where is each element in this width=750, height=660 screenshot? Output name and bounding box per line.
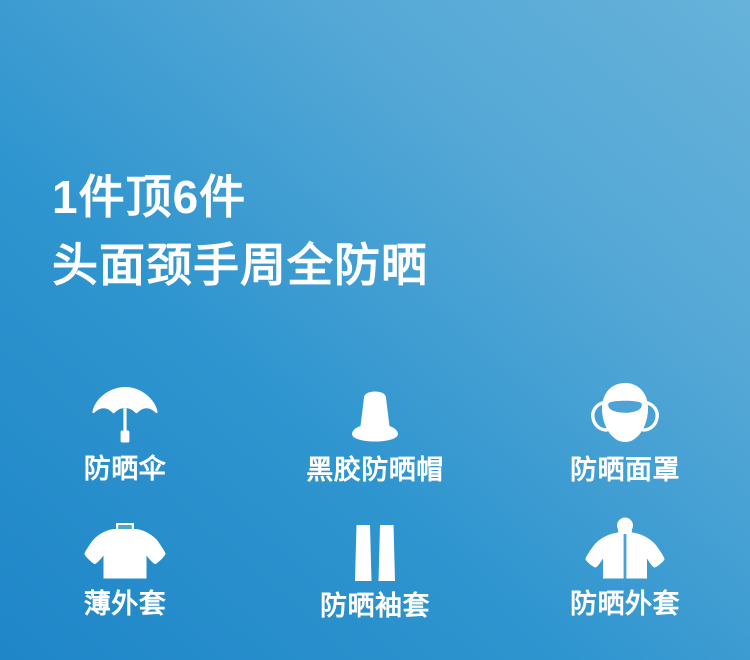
feature-label-umbrella: 防晒伞: [84, 456, 167, 483]
feature-label-sweater: 薄外套: [84, 591, 167, 618]
feature-label-hooded-jacket: 防晒外套: [570, 591, 680, 618]
feature-item-face-mask: 防晒面罩: [500, 372, 750, 507]
feature-item-arm-sleeves: 防晒袖套: [250, 507, 500, 642]
feature-grid: 防晒伞 黑胶防晒帽: [0, 372, 750, 642]
headline: 1件顶6件 头面颈手周全防晒: [52, 172, 428, 291]
feature-item-bucket-hat: 黑胶防晒帽: [250, 372, 500, 507]
headline-line-2: 头面颈手周全防晒: [52, 240, 428, 292]
hooded-jacket-icon: [585, 507, 665, 581]
arm-sleeves-icon: [353, 507, 397, 581]
sweater-icon: [84, 507, 166, 581]
feature-label-face-mask: 防晒面罩: [570, 457, 680, 484]
feature-item-hooded-jacket: 防晒外套: [500, 507, 750, 642]
headline-line-1: 1件顶6件: [52, 172, 428, 224]
bucket-hat-icon: [340, 372, 410, 446]
umbrella-icon: [89, 372, 161, 446]
feature-item-sweater: 薄外套: [0, 507, 250, 642]
feature-label-arm-sleeves: 防晒袖套: [320, 593, 430, 620]
face-mask-icon: [585, 372, 665, 446]
feature-label-bucket-hat: 黑胶防晒帽: [306, 457, 444, 484]
promo-poster: 1件顶6件 头面颈手周全防晒 防晒伞 黑胶防晒帽: [0, 0, 750, 660]
feature-item-umbrella: 防晒伞: [0, 372, 250, 507]
